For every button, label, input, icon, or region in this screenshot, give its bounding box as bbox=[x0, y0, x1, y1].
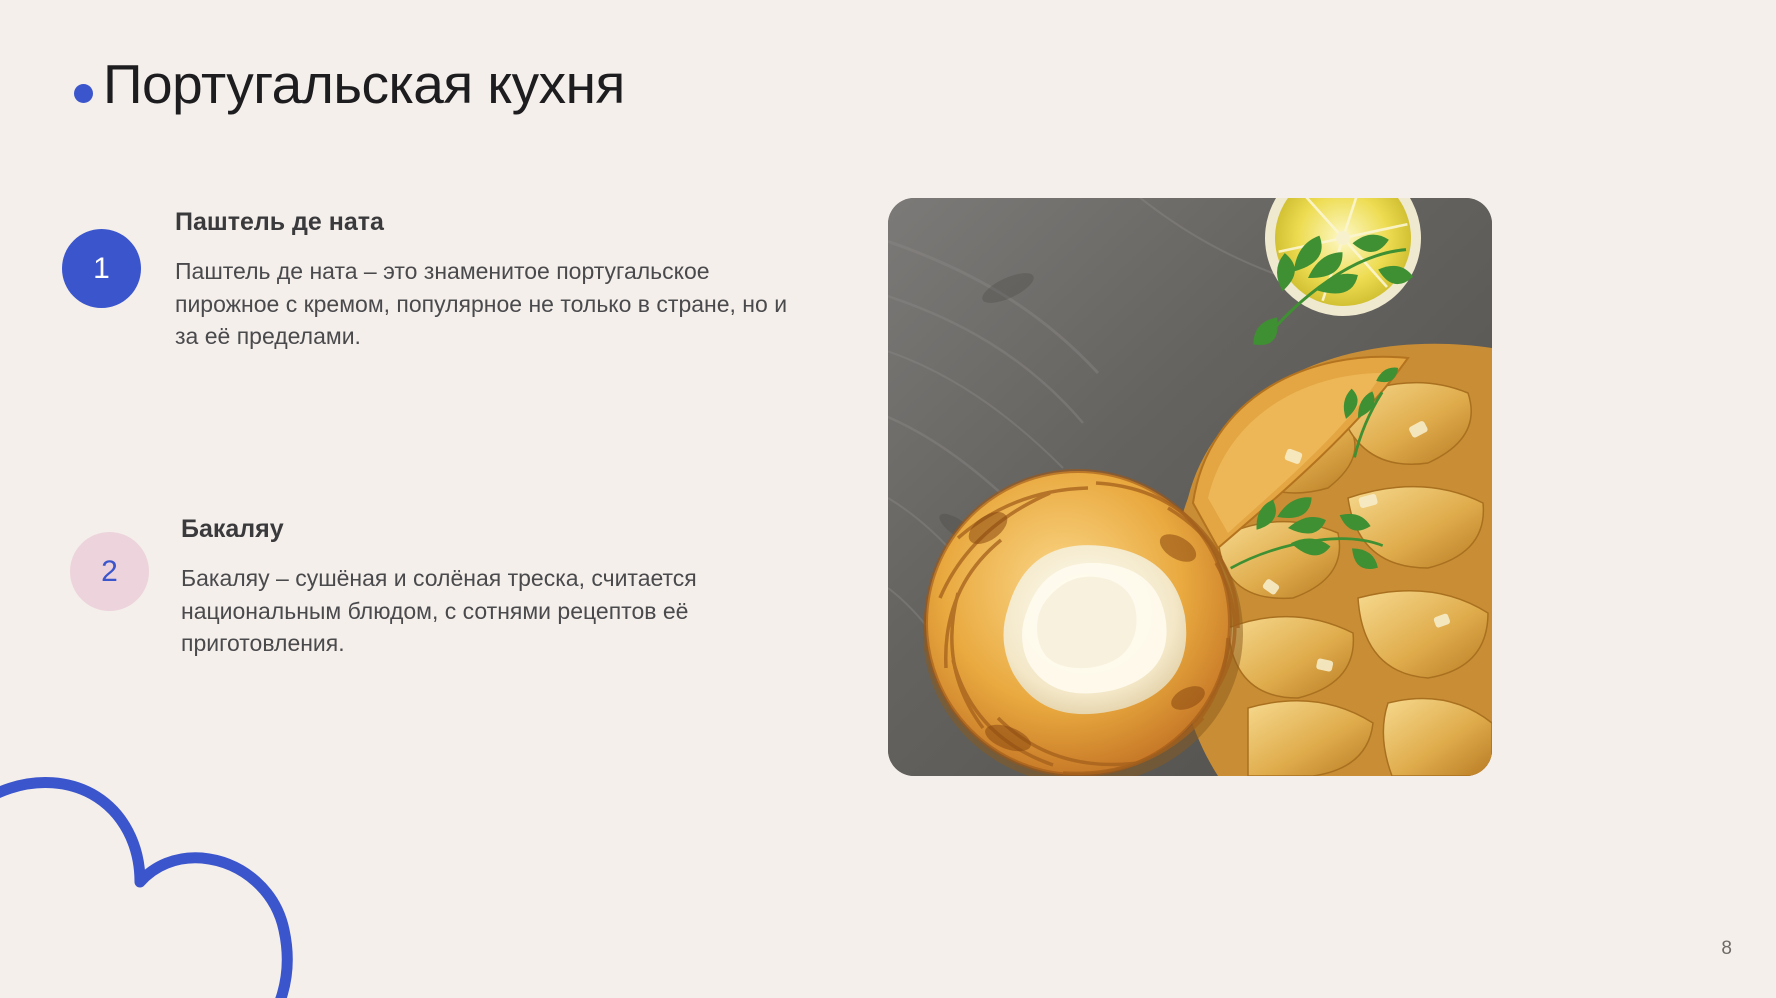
page-number: 8 bbox=[1721, 938, 1732, 960]
food-photo-illustration bbox=[888, 198, 1492, 776]
list-item-body: Паштель де ната Паштель де ната – это зн… bbox=[175, 205, 800, 353]
page-title-text: Португальская кухня bbox=[103, 56, 625, 114]
item-number-badge: 1 bbox=[62, 229, 141, 308]
slide: Португальская кухня 1 Паштель де ната Па… bbox=[0, 0, 1776, 998]
list-item: 1 Паштель де ната Паштель де ната – это … bbox=[62, 205, 822, 353]
list-item-text: Бакаляу – сушёная и солёная треска, счит… bbox=[181, 562, 806, 660]
item-number-badge: 2 bbox=[70, 532, 149, 611]
list-item-text: Паштель де ната – это знаменитое португа… bbox=[175, 255, 800, 353]
bullet-dot-icon bbox=[74, 84, 93, 103]
cloud-outline-icon bbox=[0, 690, 384, 998]
page-title: Португальская кухня bbox=[74, 56, 625, 114]
food-photo bbox=[888, 198, 1492, 776]
list-item: 2 Бакаляу Бакаляу – сушёная и солёная тр… bbox=[70, 512, 830, 660]
list-item-heading: Паштель де ната bbox=[175, 207, 800, 237]
item-number-label: 1 bbox=[93, 252, 110, 286]
item-number-label: 2 bbox=[101, 555, 118, 589]
list-item-heading: Бакаляу bbox=[181, 514, 806, 544]
list-item-body: Бакаляу Бакаляу – сушёная и солёная трес… bbox=[181, 512, 806, 660]
